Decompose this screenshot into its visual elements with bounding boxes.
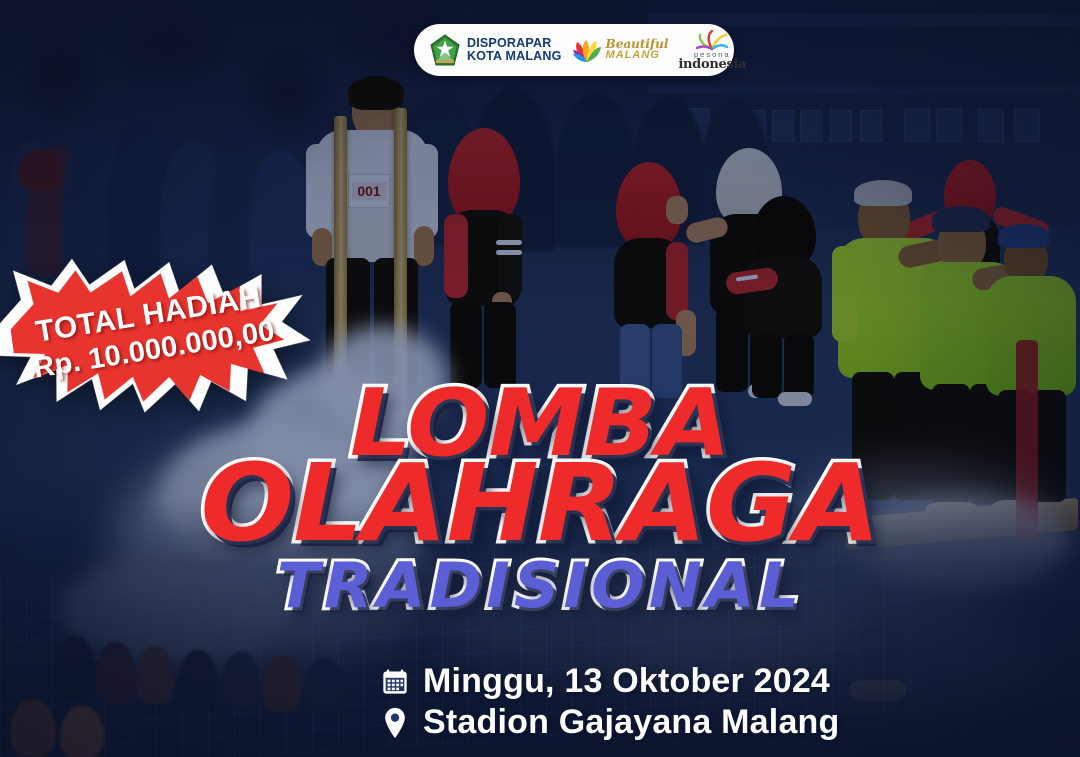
beautiful-malang-fan-icon bbox=[572, 35, 602, 65]
logo-beautiful-malang: Beautiful MALANG bbox=[572, 35, 669, 65]
event-info-block: Minggu, 13 Oktober 2024 Stadion Gajayana… bbox=[380, 662, 840, 742]
location-pin-icon bbox=[380, 707, 410, 739]
event-venue-row: Stadion Gajayana Malang bbox=[380, 703, 840, 742]
headline-line-3: TRADISIONAL bbox=[0, 549, 1080, 622]
poster-headline: LOMBA OLAHRAGA TRADISIONAL bbox=[0, 383, 1080, 622]
pesona-indonesia-mark-icon bbox=[695, 29, 729, 51]
logo-disporapar-kota-malang: DISPORAPAR KOTA MALANG bbox=[430, 34, 562, 67]
event-date-text: Minggu, 13 Oktober 2024 bbox=[423, 662, 830, 701]
indonesia-label: indonesia bbox=[678, 58, 746, 71]
headline-line-2: OLAHRAGA bbox=[0, 457, 1080, 551]
calendar-icon bbox=[380, 666, 410, 698]
event-venue-text: Stadion Gajayana Malang bbox=[423, 703, 840, 742]
disporapar-text: DISPORAPAR KOTA MALANG bbox=[467, 37, 562, 64]
event-date-row: Minggu, 13 Oktober 2024 bbox=[380, 662, 840, 701]
logo-pesona-indonesia: pesona indonesia bbox=[678, 29, 746, 72]
sponsor-logo-bar: DISPORAPAR KOTA MALANG Beautiful MALANG bbox=[414, 24, 734, 76]
beautiful-malang-text: Beautiful MALANG bbox=[606, 39, 669, 61]
malang-city-shield-icon bbox=[430, 34, 460, 67]
event-poster: 001 bbox=[0, 0, 1080, 757]
